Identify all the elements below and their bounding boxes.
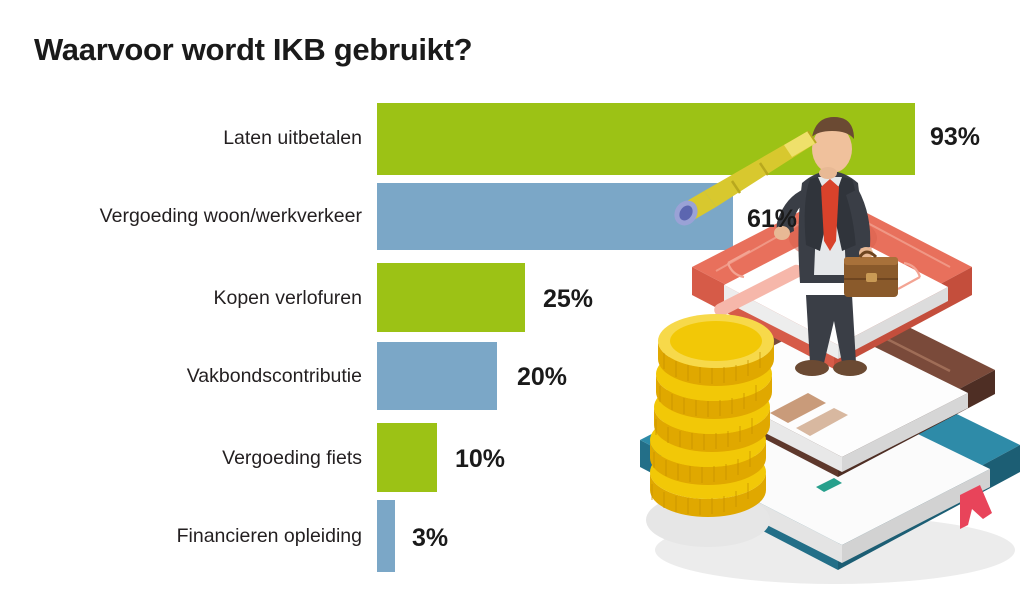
value-label: 3%	[412, 526, 448, 551]
page-title: Waarvoor wordt IKB gebruikt?	[34, 32, 472, 68]
category-label: Vergoeding woon/werkverkeer	[22, 207, 362, 227]
infographic-root: Waarvoor wordt IKB gebruikt? Laten uitbe…	[0, 0, 1030, 607]
value-label: 20%	[517, 365, 567, 390]
chart-row: Kopen verlofuren 25%	[0, 263, 1030, 332]
chart-row: Vergoeding fiets 10%	[0, 423, 1030, 492]
bar-value	[377, 500, 395, 572]
bar-chart: Laten uitbetalen 93% Vergoeding woon/wer…	[0, 95, 1030, 585]
bar-value	[377, 423, 437, 492]
category-label: Kopen verlofuren	[22, 289, 362, 309]
chart-row: Vakbondscontributie 20%	[0, 342, 1030, 410]
bar-value	[377, 183, 733, 250]
bar-value	[377, 263, 525, 332]
bar-value	[377, 342, 497, 410]
value-label: 10%	[455, 447, 505, 472]
chart-row: Financieren opleiding 3%	[0, 500, 1030, 572]
category-label: Laten uitbetalen	[22, 129, 362, 149]
value-label: 61%	[747, 207, 797, 232]
chart-row: Laten uitbetalen 93%	[0, 103, 1030, 175]
value-label: 93%	[930, 125, 980, 150]
category-label: Financieren opleiding	[22, 527, 362, 547]
value-label: 25%	[543, 287, 593, 312]
chart-row: Vergoeding woon/werkverkeer 61%	[0, 183, 1030, 250]
category-label: Vergoeding fiets	[22, 449, 362, 469]
bar-value	[377, 103, 915, 175]
category-label: Vakbondscontributie	[22, 367, 362, 387]
